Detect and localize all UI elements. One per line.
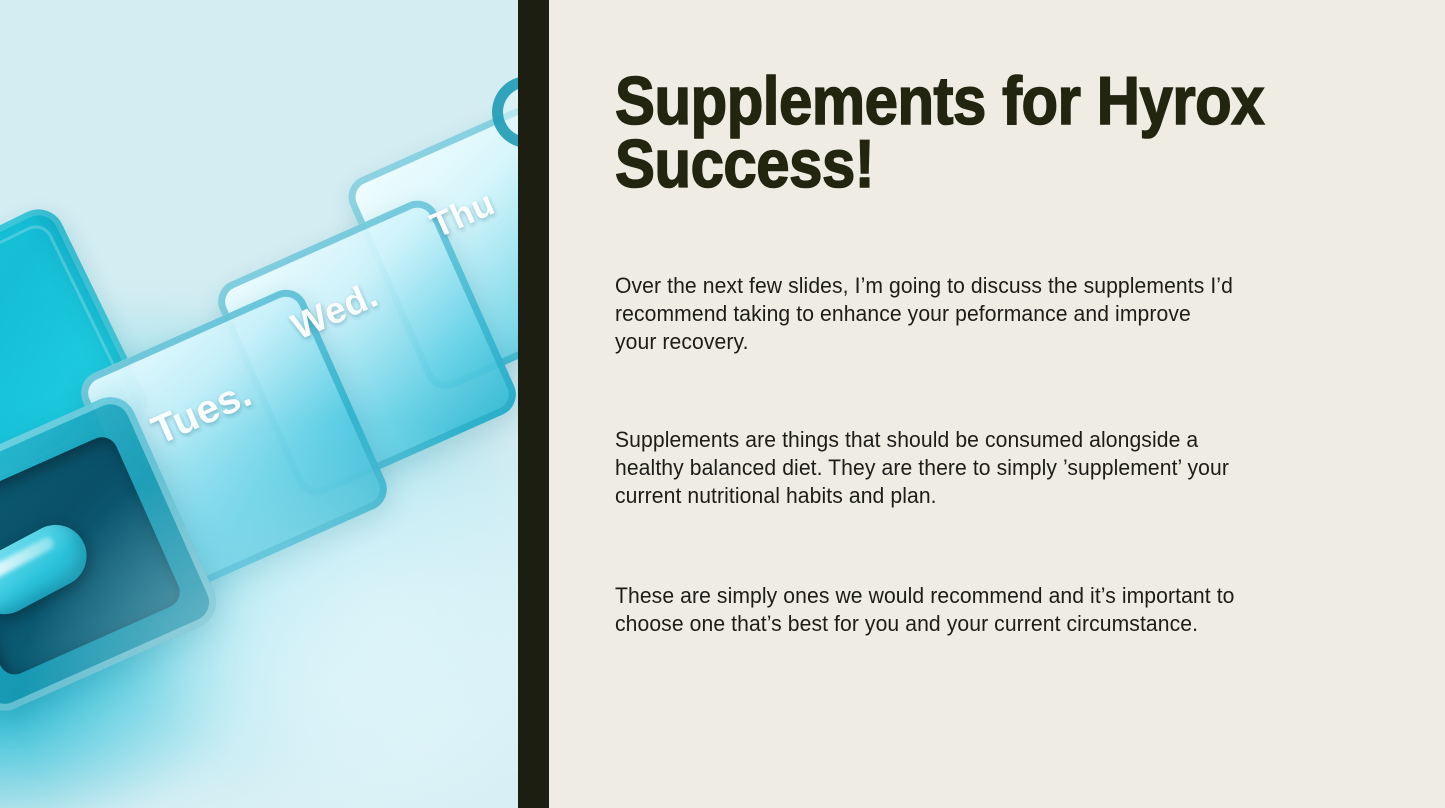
presentation-slide: Thu Wed. Tues. Supplements for Hyrox Suc… <box>0 0 1445 808</box>
slide-image-panel: Thu Wed. Tues. <box>0 0 518 808</box>
pill-organizer-photo: Thu Wed. Tues. <box>0 0 518 808</box>
body-paragraph-2: Supplements are things that should be co… <box>615 426 1325 510</box>
vertical-divider <box>518 0 549 808</box>
slide-body: Over the next few slides, I’m going to d… <box>615 272 1355 638</box>
slide-title: Supplements for Hyrox Success! <box>615 70 1310 196</box>
slide-content-panel: Supplements for Hyrox Success! Over the … <box>549 0 1445 808</box>
pill-organizer: Thu Wed. Tues. <box>0 0 518 808</box>
body-paragraph-3: These are simply ones we would recommend… <box>615 582 1325 638</box>
body-paragraph-1: Over the next few slides, I’m going to d… <box>615 272 1325 356</box>
